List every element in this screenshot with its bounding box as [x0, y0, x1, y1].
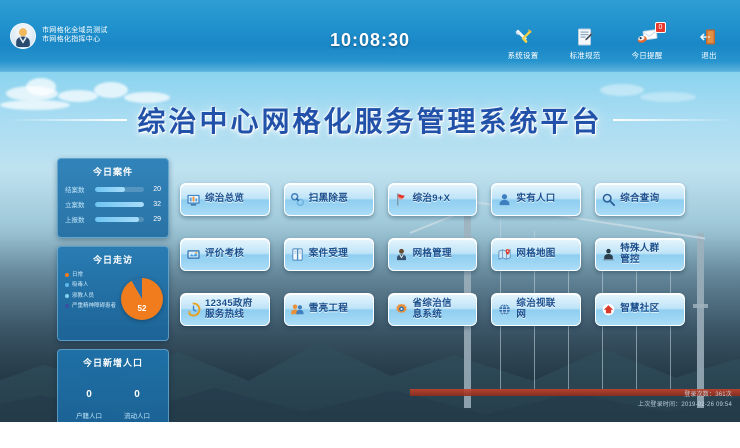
panel-new-population: 今日新增人口 0 户籍人口 0 流动人口	[57, 349, 169, 431]
footer-last-login: 上次登录时间：2019-02-26 09:54	[638, 399, 732, 408]
document-pen-icon	[575, 26, 595, 48]
menu-label-population: 实有人口	[516, 194, 555, 204]
nav-label-logout: 退出	[701, 50, 716, 61]
legend-item: 吸毒人	[65, 282, 116, 288]
nav-item-today-reminder[interactable]: 0 今日提醒	[624, 26, 670, 61]
panel-today-cases: 今日案件 结案数 20 立案数 32 上报数 29	[57, 158, 169, 238]
menu-label-query: 综合查询	[620, 194, 659, 204]
user-name-line-1: 市网格化全域员测试	[42, 27, 108, 36]
flag-icon	[394, 192, 409, 207]
menu-button-population[interactable]: 实有人口	[491, 183, 581, 216]
menu-label-special-group: 特殊人群 管控	[620, 244, 659, 265]
page-bottom-edge	[0, 422, 740, 448]
stat-bar-closed	[95, 187, 144, 192]
smart-community-icon	[601, 302, 616, 317]
panel-title-population: 今日新增人口	[65, 356, 161, 369]
statistics-sidebar: 今日案件 结案数 20 立案数 32 上报数 29 今日走访	[57, 158, 169, 431]
stat-value-closed: 20	[148, 186, 161, 193]
stat-value-filed: 32	[148, 201, 161, 208]
visits-pie-chart: 52	[121, 278, 163, 320]
menu-row: 评价考核 案件受理	[180, 238, 685, 271]
application-root: 市网格化全域员测试 市网格化指挥中心 10:08:30 系统设置	[0, 0, 740, 448]
top-header-bar: 市网格化全域员测试 市网格化指挥中心 10:08:30 系统设置	[0, 0, 740, 72]
menu-button-crackdown[interactable]: 扫黑除恶	[284, 183, 374, 216]
nav-label-system-settings: 系统设置	[508, 50, 539, 61]
user-avatar-icon	[10, 23, 36, 49]
special-group-icon	[601, 247, 616, 262]
assessment-icon	[186, 247, 201, 262]
user-identity-block: 市网格化全域员测试 市网格化指挥中心	[0, 23, 108, 49]
grid-map-icon	[497, 247, 512, 262]
stat-bar-reported	[95, 217, 144, 222]
pie-center-value: 52	[138, 304, 147, 313]
user-name-line-2: 市网格化指挥中心	[42, 36, 108, 45]
platform-title-block: 综治中心网格化服务管理系统平台	[0, 100, 740, 140]
nav-item-logout[interactable]: 退出	[686, 26, 732, 61]
legend-item: 严重精神障碍患者	[65, 303, 116, 309]
menu-button-grid-manage[interactable]: 网格管理	[388, 238, 478, 271]
population-value-floating: 0	[134, 389, 140, 400]
menu-label-crackdown: 扫黑除恶	[309, 194, 348, 204]
menu-label-province-system: 省综治信 息系统	[413, 299, 452, 320]
panel-title-visits: 今日走访	[65, 253, 161, 266]
menu-label-zongzhi-9x: 综治9+X	[413, 194, 451, 204]
case-accept-icon	[290, 247, 305, 262]
visits-legend: 日常 吸毒人 邪教人员 严重精神障碍患者	[65, 272, 116, 309]
footer-login-info: 登录次数：361次 上次登录时间：2019-02-26 09:54	[638, 389, 732, 408]
tools-icon	[513, 26, 533, 48]
legend-dot-mental	[65, 304, 69, 308]
menu-button-video-network[interactable]: 综治视联 网	[491, 293, 581, 326]
logout-icon	[699, 26, 719, 48]
menu-button-smart-community[interactable]: 智慧社区	[595, 293, 685, 326]
menu-label-assessment: 评价考核	[205, 249, 244, 259]
title-divider-right	[613, 119, 733, 121]
visits-chart-body: 日常 吸毒人 邪教人员 严重精神障碍患者	[65, 272, 161, 332]
menu-button-surveillance[interactable]: 雪亮工程	[284, 293, 374, 326]
legend-item: 日常	[65, 272, 116, 278]
population-cell-registered: 0 户籍人口	[76, 389, 102, 420]
menu-label-smart-community: 智慧社区	[620, 304, 659, 314]
panel-today-visits: 今日走访 日常 吸毒人 邪教人员	[57, 246, 169, 341]
hotline-icon	[186, 302, 201, 317]
menu-button-province-system[interactable]: 省综治信 息系统	[388, 293, 478, 326]
menu-button-case-accept[interactable]: 案件受理	[284, 238, 374, 271]
nav-label-standards: 标准规范	[570, 50, 601, 61]
population-label-registered: 户籍人口	[76, 410, 102, 420]
grid-manage-icon	[394, 247, 409, 262]
menu-button-query[interactable]: 综合查询	[595, 183, 685, 216]
stat-row: 立案数 32	[65, 199, 161, 209]
legend-dot-cult	[65, 294, 69, 298]
overview-icon	[186, 192, 201, 207]
user-name-lines: 市网格化全域员测试 市网格化指挥中心	[42, 27, 108, 45]
menu-label-grid-map: 网格地图	[516, 249, 555, 259]
title-divider-left	[7, 119, 127, 121]
legend-dot-daily	[65, 273, 69, 277]
nav-item-standards[interactable]: 标准规范	[562, 26, 608, 61]
legend-label-mental: 严重精神障碍患者	[72, 303, 116, 309]
stat-bar-filed	[95, 202, 144, 207]
nav-item-system-settings[interactable]: 系统设置	[500, 26, 546, 61]
menu-label-video-network: 综治视联 网	[516, 299, 555, 320]
population-body: 0 户籍人口 0 流动人口	[65, 375, 161, 422]
stat-row: 上报数 29	[65, 214, 161, 224]
menu-button-grid-map[interactable]: 网格地图	[491, 238, 581, 271]
surveillance-icon	[290, 302, 305, 317]
stat-value-reported: 29	[148, 216, 161, 223]
legend-label-cult: 邪教人员	[72, 293, 94, 299]
menu-label-grid-manage: 网格管理	[413, 249, 452, 259]
menu-label-case-accept: 案件受理	[309, 249, 348, 259]
legend-dot-drug	[65, 283, 69, 287]
legend-label-drug: 吸毒人	[72, 282, 89, 288]
footer-login-count: 登录次数：361次	[638, 389, 732, 398]
menu-label-hotline: 12345政府 服务热线	[205, 299, 253, 320]
page-title: 综治中心网格化服务管理系统平台	[137, 100, 602, 140]
nav-label-today-reminder: 今日提醒	[632, 50, 663, 61]
menu-label-overview: 综治总览	[205, 194, 244, 204]
main-menu-grid: 综治总览 扫黑除恶	[180, 183, 685, 326]
menu-button-assessment[interactable]: 评价考核	[180, 238, 270, 271]
legend-item: 邪教人员	[65, 293, 116, 299]
menu-row: 12345政府 服务热线 雪亮工程	[180, 293, 685, 326]
menu-button-overview[interactable]: 综治总览	[180, 183, 270, 216]
stat-row: 结案数 20	[65, 184, 161, 194]
reminder-badge: 0	[655, 22, 666, 33]
search-icon	[601, 192, 616, 207]
header-navigation: 系统设置 标准规范	[500, 26, 732, 61]
province-system-icon	[394, 302, 409, 317]
people-icon	[497, 192, 512, 207]
legend-label-daily: 日常	[72, 272, 83, 278]
stat-label-closed: 结案数	[65, 184, 91, 194]
menu-button-special-group[interactable]: 特殊人群 管控	[595, 238, 685, 271]
menu-button-hotline[interactable]: 12345政府 服务热线	[180, 293, 270, 326]
population-value-registered: 0	[86, 389, 92, 400]
stat-label-reported: 上报数	[65, 214, 91, 224]
panel-title-cases: 今日案件	[65, 165, 161, 178]
video-network-icon	[497, 302, 512, 317]
menu-label-surveillance: 雪亮工程	[309, 304, 348, 314]
stat-label-filed: 立案数	[65, 199, 91, 209]
population-cell-floating: 0 流动人口	[124, 389, 150, 420]
menu-row: 综治总览 扫黑除恶	[180, 183, 685, 216]
crackdown-icon	[290, 192, 305, 207]
menu-button-zongzhi-9x[interactable]: 综治9+X	[388, 183, 478, 216]
population-label-floating: 流动人口	[124, 410, 150, 420]
system-clock: 10:08:30	[330, 30, 410, 51]
